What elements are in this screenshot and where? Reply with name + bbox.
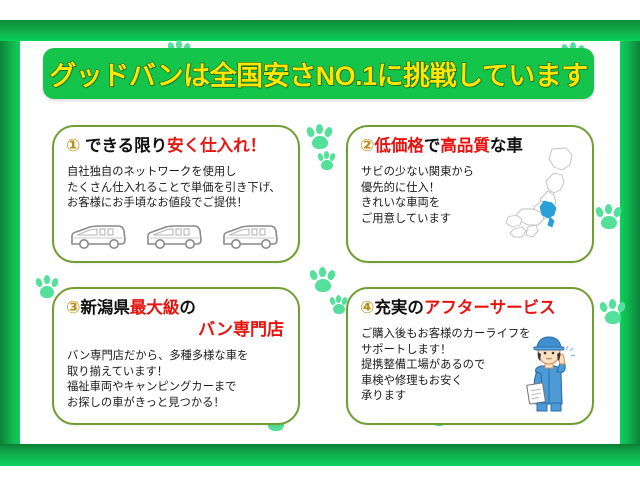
panel-3-number: ③ <box>66 298 80 317</box>
panel-2-heading-highlight: 低価格 <box>374 137 424 155</box>
promo-poster: グッドバンは全国安さNO.1に挑戦しています ① できる限り安く仕入れ！ 自社独… <box>0 0 640 480</box>
panel-1-body: 自社独自のネットワークを使用し たくさん仕入れることで単価を引き下げ、 お客様に… <box>67 165 281 212</box>
panel-3-heading: ③新潟県最大級の バン専門店 <box>66 298 290 340</box>
panel-2-heading-mid: で <box>424 137 441 155</box>
panel-1-number: ① <box>66 136 80 155</box>
panel-3-heading-plain: 新潟県 <box>80 299 130 317</box>
panel-1-heading: ① できる限り安く仕入れ！ <box>66 136 290 156</box>
japan-map-icon <box>492 145 588 250</box>
feature-panel-4: ④充実のアフターサービス ご購入後もお客様のカーライフを サポートします！ 提携… <box>346 287 594 425</box>
frame-border-left <box>0 41 20 444</box>
feature-panel-2: ②低価格で高品質な車 サビの少ない関東から 優先的に仕入！ きれいな車両を ご用… <box>346 125 594 263</box>
panel-4-body: ご購入後もお客様のカーライフを サポートします！ 提携整備工場があるので 車検や… <box>361 327 530 405</box>
panel-4-heading-plain: 充実の <box>374 299 424 317</box>
headline-banner: グッドバンは全国安さNO.1に挑戦しています <box>43 48 594 99</box>
mechanic-worker-icon <box>524 334 578 417</box>
panel-3-heading-tail: の <box>179 299 196 317</box>
frame-border-top <box>0 20 640 42</box>
clipboard-icon <box>527 383 546 404</box>
panel-3-heading-highlight: 最大級 <box>130 299 180 317</box>
van-icon <box>144 223 204 253</box>
frame-border-right <box>620 41 640 444</box>
feature-panel-1: ① できる限り安く仕入れ！ 自社独自のネットワークを使用し たくさん仕入れること… <box>52 125 300 263</box>
panel-4-heading: ④充実のアフターサービス <box>360 298 584 318</box>
van-illustration-group <box>68 223 280 253</box>
panel-2-number: ② <box>360 136 374 155</box>
van-icon <box>220 223 280 253</box>
panel-4-number: ④ <box>360 298 374 317</box>
panel-2-body: サビの少ない関東から 優先的に仕入！ きれいな車両を ご用意しています <box>361 165 474 227</box>
feature-panel-3: ③新潟県最大級の バン専門店 バン専門店だから、多種多様な車を 取り揃えています… <box>52 287 300 425</box>
panel-3-body: バン専門店だから、多種多様な車を 取り揃えています！ 福祉車両やキャンピングカー… <box>67 349 248 411</box>
panel-2-heading-highlight-2: 高品質 <box>440 137 490 155</box>
headline-text: グッドバンは全国安さNO.1に挑戦しています <box>49 54 588 93</box>
panel-1-heading-highlight: 安く仕入れ！ <box>167 137 266 155</box>
panel-4-heading-highlight: アフターサービス <box>424 299 556 317</box>
frame-border-bottom <box>0 443 640 466</box>
panel-3-heading-line2: バン専門店 <box>66 320 290 340</box>
panel-1-heading-plain: できる限り <box>85 137 167 155</box>
van-icon <box>68 223 128 253</box>
